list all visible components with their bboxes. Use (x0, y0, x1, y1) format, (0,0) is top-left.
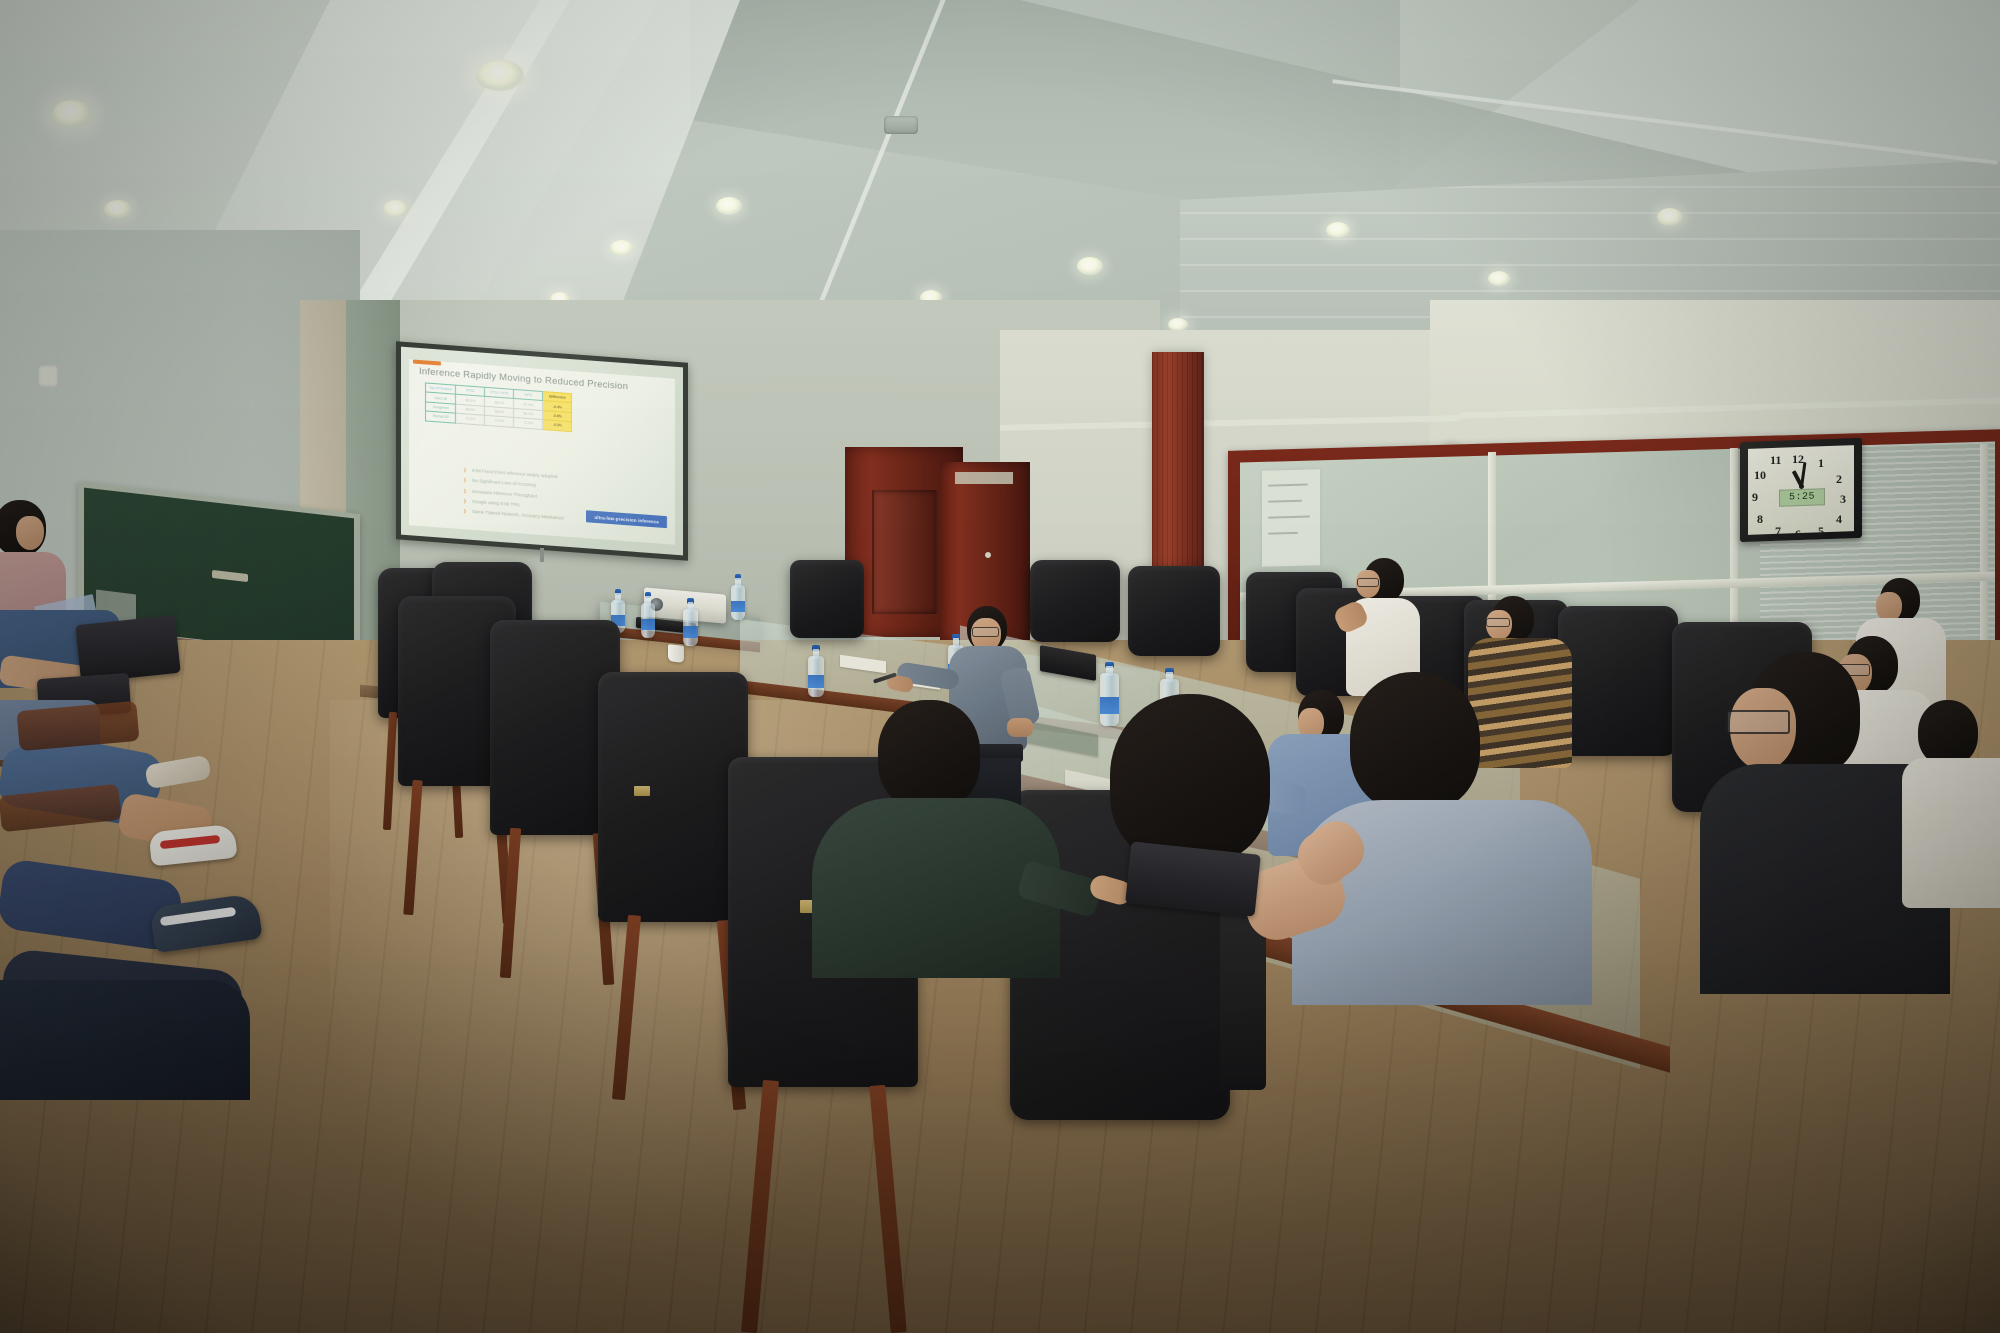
bottle-label (1100, 697, 1119, 714)
ceiling-downlight (476, 60, 524, 91)
chair[interactable] (1558, 606, 1678, 756)
light-switch[interactable] (38, 365, 58, 387)
table-cell: 73.1% (456, 413, 485, 425)
water-bottle[interactable] (731, 574, 745, 620)
torso (1902, 758, 2000, 908)
chair[interactable] (1128, 566, 1220, 656)
ceiling-downlight (1326, 222, 1350, 238)
water-bottle[interactable] (808, 645, 824, 697)
clock-number: 11 (1770, 453, 1781, 468)
clock-number: 6 (1795, 527, 1801, 542)
water-bottle[interactable] (1100, 662, 1119, 726)
clock-number: 3 (1840, 492, 1846, 507)
door-transom-window (955, 472, 1013, 484)
ceiling-vent-icon (884, 116, 918, 134)
shoulder-bag[interactable] (75, 615, 181, 683)
face (16, 516, 44, 550)
water-bottle[interactable] (683, 598, 698, 646)
water-bottle[interactable] (641, 592, 655, 638)
ceiling-downlight (1488, 271, 1510, 286)
head (878, 700, 980, 810)
head (1918, 700, 1978, 766)
clock-number: 9 (1752, 490, 1758, 505)
chair[interactable] (790, 560, 864, 638)
chair[interactable] (598, 672, 748, 922)
window-notice-poster (1262, 469, 1320, 567)
eyeglasses-icon (1357, 578, 1379, 587)
window-mullion-vertical (1980, 444, 1988, 656)
clock-number: 2 (1836, 472, 1842, 487)
presentation-slide: Inference Rapidly Moving to Reduced Prec… (409, 359, 675, 545)
torso-striped (1468, 638, 1572, 768)
poster-text-line (1268, 500, 1302, 503)
conference-room-photo: Inference Rapidly Moving to Reduced Prec… (0, 0, 2000, 1333)
poster-text-line (1268, 515, 1310, 518)
eyeglasses-icon (972, 627, 999, 637)
projection-screen: Inference Rapidly Moving to Reduced Prec… (401, 347, 683, 556)
door-panel (872, 490, 938, 614)
bottle-body (683, 609, 698, 646)
eyeglasses-icon (1726, 710, 1790, 734)
ceiling-downlight (610, 240, 634, 256)
chair-tag (634, 786, 650, 796)
bottle-label (731, 601, 745, 612)
slide-accent-bar (413, 360, 441, 366)
bottle-body (731, 585, 745, 620)
presenter-right-hand (1007, 718, 1033, 737)
ceiling-downlight (716, 197, 742, 215)
bottle-label (683, 626, 698, 638)
table-cell: 72.8% (514, 418, 543, 430)
ceiling-downlight (52, 100, 92, 128)
clock-digital-display: 5:25 (1779, 488, 1825, 507)
clock-number: 8 (1757, 512, 1763, 527)
clock-number: 10 (1754, 468, 1766, 483)
bottle-label (641, 619, 655, 630)
poster-text-line (1268, 532, 1298, 535)
table-cell-model: Resnet-50 (426, 411, 456, 423)
table-cell: 73.0% (485, 415, 514, 427)
person-foreground-left (0, 980, 250, 1100)
ceiling-downlight (383, 200, 409, 218)
ceiling-downlight (1077, 257, 1103, 275)
door-handle[interactable] (985, 552, 991, 558)
head (1350, 672, 1480, 812)
clock-number: 1 (1818, 456, 1824, 471)
ceiling-downlight (104, 200, 132, 219)
clock-number: 5 (1818, 524, 1824, 539)
screen-support-post (540, 548, 544, 562)
eyeglasses-icon (1486, 618, 1510, 627)
table-cell-highlight: -0.3% (543, 420, 572, 432)
bottle-body (641, 603, 655, 638)
bottle-label (808, 675, 824, 688)
clock-number: 7 (1775, 524, 1781, 539)
coffee-mug[interactable] (668, 644, 684, 663)
bottle-body (1100, 673, 1119, 726)
bottle-body (808, 656, 824, 697)
poster-text-line (1268, 484, 1308, 487)
clock-number: 4 (1836, 512, 1842, 527)
head (1110, 694, 1270, 864)
ceiling-downlight (1657, 208, 1683, 226)
chair[interactable] (1030, 560, 1120, 642)
slide-data-table: Top-5 Precision FP32 FP16 / INT8 INT8 Di… (425, 382, 572, 431)
